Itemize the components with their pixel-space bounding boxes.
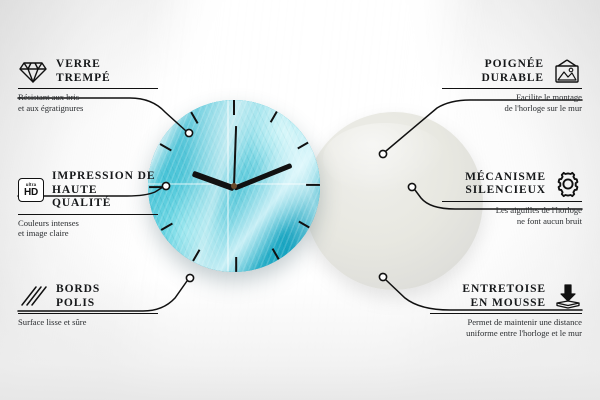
feature-header: POIGNÉE DURABLE [442,58,582,85]
feature-title: VERRE TREMPÉ [56,58,111,85]
feature-rule [18,88,158,89]
feature-bords-polis[interactable]: BORDS POLIS Surface lisse et sûre [18,283,158,328]
feature-mecanisme-silencieux[interactable]: MÉCANISME SILENCIEUX Les aiguilles de l'… [442,170,582,227]
feature-poignee-durable[interactable]: POIGNÉE DURABLE Facilite le montage de l… [442,58,582,114]
clock-tick [235,185,320,187]
feature-header: ultra HD IMPRESSION DE HAUTE QUALITÉ [18,170,158,211]
feature-title: POIGNÉE DURABLE [481,58,544,85]
infographic-canvas: VERRE TREMPÉ Résistant aux bris et aux é… [0,0,600,400]
feature-rule [442,201,582,202]
feature-rule [18,313,158,314]
feature-description: Facilite le montage de l'horloge sur le … [442,92,582,113]
feature-title: MÉCANISME SILENCIEUX [465,171,546,198]
ultra-hd-icon: ultra HD [18,178,44,202]
feature-header: BORDS POLIS [18,283,158,310]
feature-description: Résistant aux bris et aux égratignures [18,92,158,113]
feature-rule [430,313,582,314]
polished-edges-icon [18,285,48,309]
gear-icon [554,170,582,198]
feature-title: BORDS POLIS [56,283,100,310]
clock-center-pin [231,183,237,189]
feature-description: Permet de maintenir une distance uniform… [430,317,582,338]
picture-frame-icon [552,59,582,85]
clock-back-gloss [323,123,448,194]
feature-title: IMPRESSION DE HAUTE QUALITÉ [52,170,158,211]
clock-tick [234,186,236,272]
feature-verre-trempe[interactable]: VERRE TREMPÉ Résistant aux bris et aux é… [18,58,158,114]
feature-header: MÉCANISME SILENCIEUX [442,170,582,198]
feature-description: Surface lisse et sûre [18,317,158,328]
feature-description: Couleurs intenses et image claire [18,218,158,239]
feature-description: Les aiguilles de l'horloge ne font aucun… [442,205,582,226]
clock-front-view [148,100,320,272]
diamond-icon [18,59,48,85]
foam-spacer-icon [554,284,582,310]
feature-header: ENTRETOISE EN MOUSSE [430,283,582,310]
feature-entretoise-en-mousse[interactable]: ENTRETOISE EN MOUSSE Permet de maintenir… [430,283,582,339]
feature-title: ENTRETOISE EN MOUSSE [462,283,546,310]
feature-rule [442,88,582,89]
feature-rule [18,214,158,215]
feature-impression-haute-qualite[interactable]: ultra HD IMPRESSION DE HAUTE QUALITÉ Cou… [18,170,158,239]
feature-header: VERRE TREMPÉ [18,58,158,85]
